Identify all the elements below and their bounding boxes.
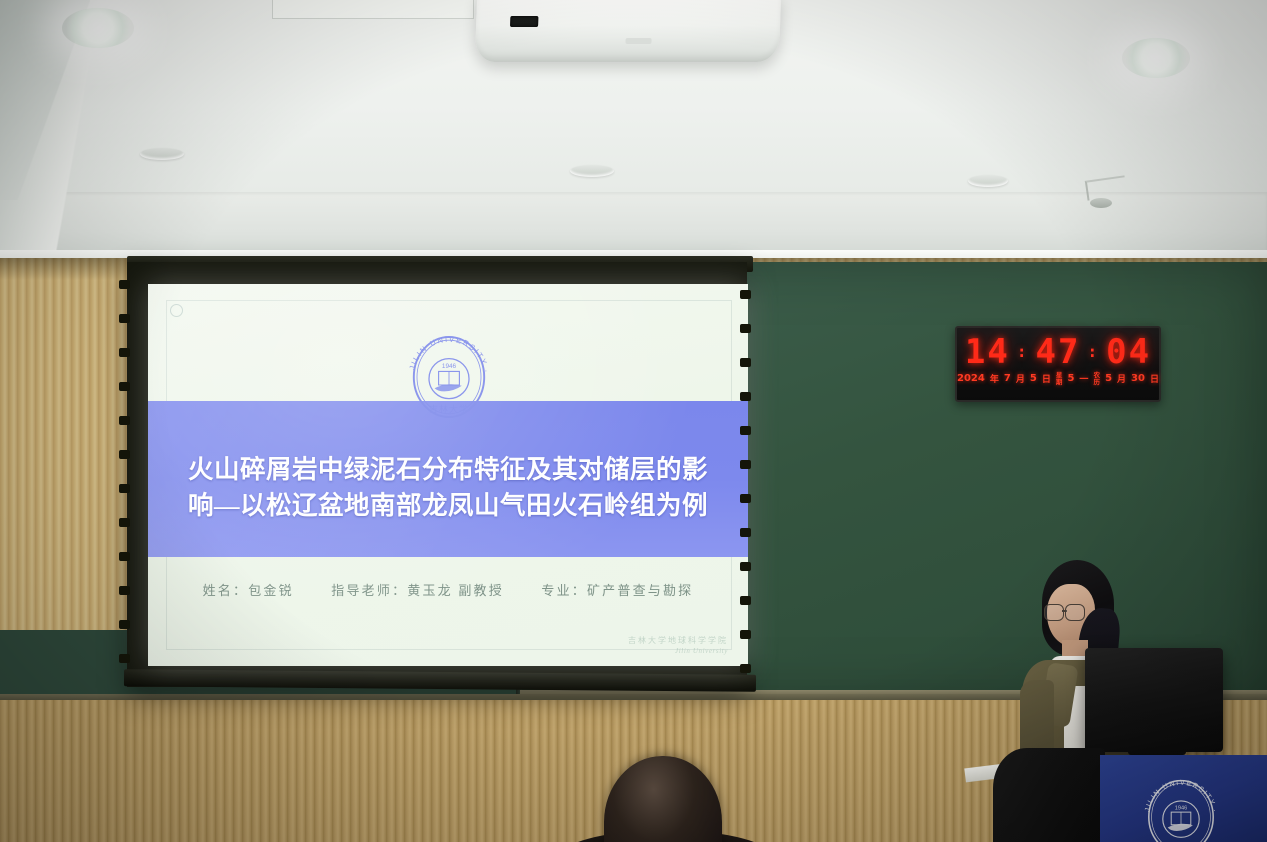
screen-edge-tab <box>740 494 751 503</box>
clock-lunar-month-value: 5 <box>1105 373 1112 384</box>
ceiling-downlight-icon <box>62 8 134 48</box>
clock-time-display: 14 : 47 : 04 <box>957 331 1159 373</box>
ceiling-speaker-icon <box>570 165 614 177</box>
clock-day-unit: 日 <box>1042 372 1051 385</box>
screen-edge-tab <box>740 324 751 333</box>
slide-watermark-en: Jilin University <box>628 646 728 656</box>
projector-vent <box>625 38 651 44</box>
projector-lens-icon <box>510 16 538 27</box>
screen-edge-tab <box>740 358 751 367</box>
lecture-hall-photo: JILIN UNIVERSITY · CHINA 1946 吉林大学 火山碎屑岩… <box>0 0 1267 842</box>
screen-edge-tab <box>740 630 751 639</box>
ceiling-speaker-icon <box>968 175 1008 187</box>
screen-edge-tab <box>740 664 751 673</box>
ceiling-speaker-icon <box>140 148 184 160</box>
screen-edge-tab <box>740 290 751 299</box>
screen-edge-tab <box>119 416 130 425</box>
slide-footer-name: 姓名：包金锐 <box>203 583 294 598</box>
screen-edge-tab <box>119 654 130 663</box>
slide-corner-marker <box>170 304 183 317</box>
clock-seconds: 04 <box>1106 332 1151 372</box>
screen-edge-tab <box>119 484 130 493</box>
screen-edge-tab <box>119 348 130 357</box>
screen-edge-tab <box>740 426 751 435</box>
hp-monitor: hp <box>1085 648 1223 752</box>
screen-edge-tab <box>119 552 130 561</box>
podium-seal-year: 1946 <box>1175 805 1187 811</box>
screen-edge-tab <box>119 382 130 391</box>
podium-jilin-university-seal-icon: JILIN UNIVERSITY · CHINA 1946 吉林大学 <box>1139 775 1223 842</box>
screen-edge-tab <box>740 596 751 605</box>
slide-watermark: 吉林大学地球科学学院 Jilin University <box>628 636 728 656</box>
screen-edge-tab <box>119 586 130 595</box>
screen-edge-tab <box>119 314 130 323</box>
slide-title: 火山碎屑岩中绿泥石分布特征及其对储层的影 响—以松辽盆地南部龙凤山气田火石岭组为… <box>174 452 722 524</box>
seal-chinese-name: 吉林大学 <box>429 403 469 414</box>
slide-footer: 姓名：包金锐 指导老师：黄玉龙 副教授 专业：矿产普查与勘探 <box>148 580 748 599</box>
clock-date-display: 2024 年 7 月 5 日 星期 5 一 农历 5 月 30 日 <box>957 372 1159 385</box>
clock-arrow-icon: 一 <box>1079 372 1088 385</box>
slide-title-line-2: 响—以松辽盆地南部龙凤山气田火石岭组为例 <box>174 488 722 524</box>
clock-lunar-month-unit: 月 <box>1117 372 1126 385</box>
screen-edge-tab <box>119 280 130 289</box>
seal-year-text: 1946 <box>442 363 457 370</box>
ceiling-projector <box>475 0 781 62</box>
slide-watermark-cn: 吉林大学地球科学学院 <box>628 636 728 646</box>
screen-edge-tab <box>740 562 751 571</box>
clock-separator: : <box>1017 342 1029 361</box>
ceiling-downlight-icon <box>1122 38 1190 78</box>
screen-edge-tab <box>119 518 130 527</box>
screen-edge-tab <box>740 460 751 469</box>
screen-edge-tab <box>740 528 751 537</box>
podium-dark-panel <box>993 748 1105 842</box>
clock-lunar-day-value: 30 <box>1131 373 1145 384</box>
clock-hours: 14 <box>965 332 1010 372</box>
slide-title-line-1: 火山碎屑岩中绿泥石分布特征及其对储层的影 <box>174 452 722 488</box>
clock-day-value: 5 <box>1030 373 1037 384</box>
screen-edge-tab <box>740 392 751 401</box>
clock-separator: : <box>1087 342 1099 361</box>
eyeglasses-icon <box>1044 604 1090 619</box>
clock-weekday-value: 5 <box>1067 373 1074 384</box>
clock-month-value: 7 <box>1004 373 1011 384</box>
clock-lunar-label: 农历 <box>1093 372 1100 385</box>
clock-lunar-day-unit: 日 <box>1150 372 1159 385</box>
eyeglass-lens-left <box>1044 604 1064 621</box>
slide-footer-major: 专业：矿产普查与勘探 <box>541 583 693 598</box>
presentation-slide: JILIN UNIVERSITY · CHINA 1946 吉林大学 火山碎屑岩… <box>148 284 748 666</box>
jilin-university-seal-icon: JILIN UNIVERSITY · CHINA 1946 吉林大学 <box>401 329 497 425</box>
slide-footer-advisor: 指导老师：黄玉龙 副教授 <box>331 583 504 598</box>
clock-year-unit: 年 <box>990 372 999 385</box>
smoke-detector-icon <box>1090 198 1112 208</box>
led-wall-clock: 14 : 47 : 04 2024 年 7 月 5 日 星期 5 一 农历 5 … <box>955 326 1161 402</box>
ceiling-panel-seam <box>272 0 474 19</box>
screen-edge-tab <box>119 620 130 629</box>
clock-month-unit: 月 <box>1016 372 1025 385</box>
screen-edge-tab <box>119 450 130 459</box>
clock-weekday-label: 星期 <box>1056 372 1063 385</box>
clock-minutes: 47 <box>1036 332 1081 372</box>
eyeglass-lens-right <box>1065 604 1085 621</box>
clock-year-value: 2024 <box>957 373 985 384</box>
